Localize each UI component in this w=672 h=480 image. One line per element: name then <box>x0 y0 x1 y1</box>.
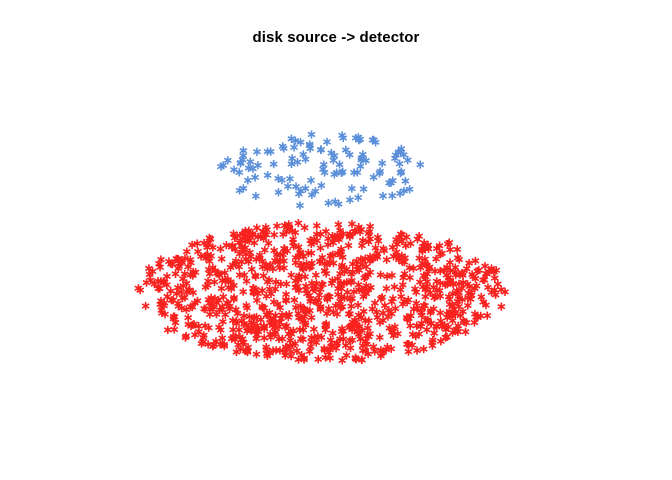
scatter-point <box>327 343 334 351</box>
scatter-point <box>373 251 380 259</box>
scatter-point <box>295 190 302 198</box>
scatter-point <box>354 263 361 271</box>
scatter-point <box>137 286 144 294</box>
scatter-point <box>259 228 266 236</box>
scatter-point <box>206 310 213 318</box>
scatter-point <box>365 332 372 340</box>
scatter-point <box>359 346 366 354</box>
scatter-point <box>404 298 411 306</box>
scatter-point <box>284 182 291 190</box>
scatter-point <box>228 335 235 343</box>
scatter-point <box>352 354 359 362</box>
scatter-point <box>277 251 284 259</box>
scatter-point <box>347 344 354 352</box>
scatter-point <box>237 345 244 353</box>
scatter-point <box>221 342 228 350</box>
scatter-point <box>315 355 322 363</box>
scatter-point <box>233 348 240 356</box>
scatter-point <box>386 179 393 187</box>
scatter-point <box>323 270 330 278</box>
scatter-point <box>236 250 243 258</box>
scatter-point <box>463 319 470 327</box>
scatter-point <box>279 142 286 150</box>
scatter-point <box>306 140 313 148</box>
scatter-point <box>297 314 304 322</box>
scatter-point <box>397 286 404 294</box>
scatter-point <box>292 303 299 311</box>
scatter-point <box>160 278 167 286</box>
scatter-point <box>297 187 304 195</box>
series-detector <box>217 130 423 209</box>
scatter-point <box>316 291 323 299</box>
scatter-point <box>232 260 239 268</box>
scatter-point <box>178 304 185 312</box>
scatter-point <box>161 278 168 286</box>
scatter-point <box>352 134 359 142</box>
scatter-point <box>314 332 321 340</box>
scatter-point <box>308 191 315 199</box>
scatter-point <box>282 343 289 351</box>
scatter-point <box>299 335 306 343</box>
scatter-point <box>459 269 466 277</box>
scatter-point <box>308 314 315 322</box>
scatter-point <box>302 306 309 314</box>
scatter-point <box>244 176 251 184</box>
scatter-point <box>273 250 280 258</box>
scatter-point <box>240 338 247 346</box>
scatter-point <box>293 347 300 355</box>
scatter-point <box>350 168 357 176</box>
scatter-point <box>390 327 397 335</box>
scatter-point <box>388 298 395 306</box>
scatter-canvas <box>0 0 672 480</box>
scatter-point <box>183 279 190 287</box>
scatter-point <box>249 165 256 173</box>
scatter-point <box>449 302 456 310</box>
scatter-point <box>253 313 260 321</box>
scatter-point <box>295 313 302 321</box>
scatter-point <box>403 313 410 321</box>
scatter-point <box>266 349 273 357</box>
scatter-point <box>307 297 314 305</box>
scatter-point <box>338 327 345 335</box>
scatter-point <box>242 255 249 263</box>
scatter-point <box>349 336 356 344</box>
scatter-point <box>285 330 292 338</box>
scatter-point <box>404 315 411 323</box>
scatter-point <box>294 158 301 166</box>
scatter-point <box>242 227 249 235</box>
scatter-point <box>450 279 457 287</box>
scatter-point <box>266 276 273 284</box>
scatter-point <box>351 316 358 324</box>
scatter-point <box>417 161 424 169</box>
scatter-point <box>349 268 356 276</box>
scatter-point <box>377 352 384 360</box>
scatter-point <box>355 223 362 231</box>
scatter-point <box>453 287 460 295</box>
scatter-point <box>187 256 194 264</box>
scatter-point <box>248 326 255 334</box>
scatter-point <box>359 342 366 350</box>
scatter-point <box>263 311 270 319</box>
scatter-point <box>362 288 369 296</box>
scatter-point <box>427 308 434 316</box>
scatter-point <box>471 318 478 326</box>
scatter-point <box>248 319 255 327</box>
scatter-point <box>454 297 461 305</box>
scatter-point <box>292 254 299 262</box>
scatter-point <box>366 330 373 338</box>
scatter-point <box>322 321 329 329</box>
scatter-point <box>362 157 369 165</box>
scatter-point <box>339 131 346 139</box>
scatter-point <box>399 281 406 289</box>
scatter-point <box>185 314 192 322</box>
scatter-point <box>334 231 341 239</box>
scatter-point <box>360 293 367 301</box>
scatter-point <box>406 264 413 272</box>
scatter-point <box>326 258 333 266</box>
scatter-point <box>346 232 353 240</box>
scatter-point <box>292 182 299 190</box>
scatter-point <box>436 287 443 295</box>
scatter-point <box>186 286 193 294</box>
scatter-point <box>189 321 196 329</box>
scatter-point <box>210 341 217 349</box>
scatter-point <box>322 353 329 361</box>
scatter-point <box>170 312 177 320</box>
scatter-point <box>297 261 304 269</box>
scatter-point <box>362 337 369 345</box>
scatter-point <box>252 173 259 181</box>
scatter-point <box>187 271 194 279</box>
scatter-point <box>477 312 484 320</box>
scatter-point <box>427 319 434 327</box>
scatter-point <box>161 299 168 307</box>
scatter-point <box>292 340 299 348</box>
scatter-point <box>300 306 307 314</box>
scatter-point <box>454 328 461 336</box>
scatter-point <box>417 322 424 330</box>
scatter-point <box>297 335 304 343</box>
scatter-point <box>413 322 420 330</box>
scatter-point <box>353 318 360 326</box>
scatter-point <box>330 259 337 267</box>
scatter-point <box>265 239 272 247</box>
scatter-point <box>181 293 188 301</box>
scatter-point <box>337 303 344 311</box>
scatter-point <box>330 239 337 247</box>
scatter-point <box>300 252 307 260</box>
scatter-point <box>442 333 449 341</box>
scatter-point <box>283 322 290 330</box>
scatter-point <box>259 257 266 265</box>
scatter-point <box>232 335 239 343</box>
scatter-point <box>263 343 270 351</box>
scatter-point <box>286 175 293 183</box>
scatter-point <box>349 260 356 268</box>
scatter-point <box>255 325 262 333</box>
scatter-point <box>321 267 328 275</box>
scatter-point <box>348 321 355 329</box>
scatter-point <box>229 316 236 324</box>
scatter-point <box>355 133 362 141</box>
scatter-point <box>384 272 391 280</box>
scatter-point <box>348 220 355 228</box>
scatter-point <box>405 348 412 356</box>
scatter-point <box>219 306 226 314</box>
scatter-point <box>338 169 345 177</box>
scatter-point <box>432 292 439 300</box>
scatter-point <box>310 325 317 333</box>
scatter-point <box>365 238 372 246</box>
scatter-point <box>283 223 290 231</box>
scatter-point <box>419 245 426 253</box>
scatter-point <box>313 338 320 346</box>
scatter-point <box>420 345 427 353</box>
scatter-point <box>467 289 474 297</box>
scatter-point <box>325 348 332 356</box>
scatter-point <box>373 308 380 316</box>
scatter-point <box>501 288 508 296</box>
scatter-point <box>296 252 303 260</box>
scatter-point <box>288 135 295 143</box>
scatter-point <box>332 198 339 206</box>
scatter-point <box>471 310 478 318</box>
scatter-point <box>175 255 182 263</box>
scatter-point <box>458 284 465 292</box>
scatter-point <box>189 271 196 279</box>
scatter-point <box>145 264 152 272</box>
scatter-point <box>244 347 251 355</box>
scatter-point <box>205 239 212 247</box>
scatter-point <box>305 249 312 257</box>
scatter-point <box>281 221 288 229</box>
scatter-point <box>347 337 354 345</box>
scatter-point <box>352 227 359 235</box>
scatter-point <box>222 277 229 285</box>
scatter-point <box>429 338 436 346</box>
scatter-point <box>219 277 226 285</box>
scatter-point <box>254 161 261 169</box>
scatter-point <box>339 253 346 261</box>
scatter-point <box>356 286 363 294</box>
scatter-point <box>201 239 208 247</box>
scatter-point <box>334 234 341 242</box>
scatter-point <box>413 288 420 296</box>
scatter-point <box>288 160 295 168</box>
scatter-point <box>466 282 473 290</box>
scatter-point <box>178 288 185 296</box>
scatter-point <box>411 285 418 293</box>
scatter-point <box>306 291 313 299</box>
scatter-point <box>283 311 290 319</box>
scatter-point <box>490 268 497 276</box>
scatter-point <box>456 255 463 263</box>
scatter-point <box>346 196 353 204</box>
scatter-point <box>460 278 467 286</box>
scatter-point <box>383 345 390 353</box>
scatter-point <box>401 254 408 262</box>
scatter-point <box>253 148 260 156</box>
scatter-point <box>260 227 267 235</box>
scatter-point <box>241 232 248 240</box>
scatter-point <box>444 313 451 321</box>
scatter-point <box>349 326 356 334</box>
scatter-point <box>282 296 289 304</box>
scatter-point <box>455 288 462 296</box>
scatter-point <box>183 332 190 340</box>
scatter-point <box>323 294 330 302</box>
scatter-point <box>460 316 467 324</box>
scatter-point <box>347 230 354 238</box>
scatter-point <box>312 187 319 195</box>
scatter-point <box>424 270 431 278</box>
scatter-point <box>340 134 347 142</box>
scatter-point <box>451 305 458 313</box>
scatter-point <box>483 270 490 278</box>
scatter-point <box>396 160 403 168</box>
scatter-point <box>280 230 287 238</box>
scatter-point <box>392 305 399 313</box>
scatter-point <box>226 305 233 313</box>
scatter-point <box>242 250 249 258</box>
scatter-point <box>210 303 217 311</box>
scatter-point <box>163 281 170 289</box>
scatter-point <box>422 293 429 301</box>
scatter-point <box>285 313 292 321</box>
scatter-point <box>280 257 287 265</box>
scatter-point <box>283 280 290 288</box>
scatter-point <box>365 229 372 237</box>
scatter-point <box>480 276 487 284</box>
scatter-point <box>238 317 245 325</box>
scatter-point <box>289 341 296 349</box>
scatter-point <box>276 318 283 326</box>
scatter-point <box>308 279 315 287</box>
scatter-point <box>225 283 232 291</box>
scatter-point <box>355 136 362 144</box>
scatter-point <box>437 309 444 317</box>
scatter-point <box>233 317 240 325</box>
scatter-point <box>231 234 238 242</box>
scatter-point <box>230 281 237 289</box>
scatter-point <box>323 320 330 328</box>
scatter-point <box>287 327 294 335</box>
scatter-point <box>337 281 344 289</box>
scatter-point <box>398 237 405 245</box>
scatter-point <box>329 329 336 337</box>
scatter-point <box>319 165 326 173</box>
scatter-point <box>418 319 425 327</box>
scatter-point <box>271 323 278 331</box>
scatter-point <box>482 269 489 277</box>
scatter-point <box>469 270 476 278</box>
scatter-point <box>391 154 398 162</box>
scatter-point <box>306 306 313 314</box>
scatter-point <box>259 304 266 312</box>
scatter-point <box>338 263 345 271</box>
scatter-point <box>264 278 271 286</box>
scatter-point <box>461 318 468 326</box>
scatter-point <box>270 298 277 306</box>
scatter-point <box>213 299 220 307</box>
scatter-point <box>317 285 324 293</box>
scatter-point <box>300 150 307 158</box>
scatter-point <box>168 296 175 304</box>
scatter-point <box>396 233 403 241</box>
scatter-point <box>474 313 481 321</box>
scatter-point <box>333 340 340 348</box>
scatter-point <box>390 332 397 340</box>
scatter-point <box>339 261 346 269</box>
scatter-point <box>449 290 456 298</box>
scatter-point <box>228 243 235 251</box>
scatter-point <box>338 245 345 253</box>
scatter-point <box>277 304 284 312</box>
scatter-point <box>321 344 328 352</box>
scatter-point <box>393 251 400 259</box>
scatter-point <box>471 284 478 292</box>
scatter-point <box>433 277 440 285</box>
scatter-point <box>401 270 408 278</box>
scatter-point <box>272 278 279 286</box>
scatter-point <box>224 156 231 164</box>
scatter-point <box>183 288 190 296</box>
scatter-point <box>316 258 323 266</box>
scatter-point <box>433 286 440 294</box>
scatter-point <box>416 254 423 262</box>
scatter-point <box>212 267 219 275</box>
scatter-point <box>211 278 218 286</box>
scatter-point <box>388 310 395 318</box>
scatter-point <box>215 323 222 331</box>
scatter-point <box>209 305 216 313</box>
scatter-point <box>259 286 266 294</box>
scatter-point <box>380 309 387 317</box>
scatter-point <box>292 137 299 145</box>
scatter-point <box>292 284 299 292</box>
scatter-point <box>317 230 324 238</box>
scatter-point <box>455 292 462 300</box>
scatter-point <box>354 265 361 273</box>
scatter-point <box>272 328 279 336</box>
scatter-point <box>247 253 254 261</box>
scatter-point <box>462 328 469 336</box>
scatter-point <box>329 251 336 259</box>
scatter-point <box>491 286 498 294</box>
scatter-point <box>381 301 388 309</box>
scatter-point <box>302 155 309 163</box>
scatter-point <box>370 173 377 181</box>
scatter-point <box>308 338 315 346</box>
scatter-point <box>302 282 309 290</box>
scatter-point <box>356 322 363 330</box>
scatter-point <box>400 274 407 282</box>
scatter-point <box>488 288 495 296</box>
scatter-point <box>227 278 234 286</box>
scatter-point <box>322 326 329 334</box>
scatter-point <box>370 136 377 144</box>
scatter-point <box>283 345 290 353</box>
scatter-point <box>459 271 466 279</box>
scatter-point <box>355 281 362 289</box>
scatter-point <box>231 293 238 301</box>
scatter-point <box>452 310 459 318</box>
scatter-point <box>367 268 374 276</box>
scatter-point <box>420 272 427 280</box>
